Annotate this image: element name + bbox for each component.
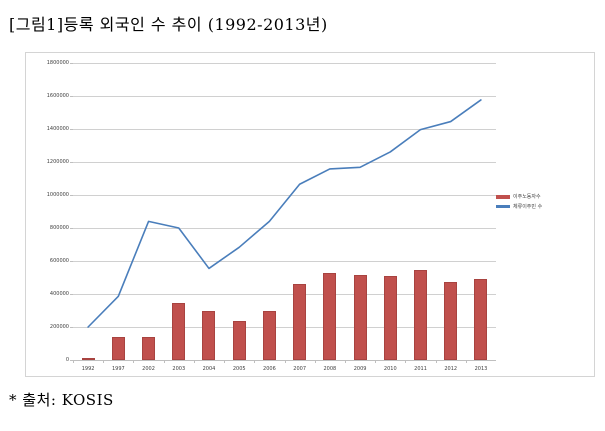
bar-category: 2007 <box>285 63 315 360</box>
x-axis-tick-label: 2003 <box>172 366 185 372</box>
bar-category: 2004 <box>194 63 224 360</box>
legend-item-line: 체류이주민 수 <box>496 203 588 210</box>
x-axis-tick-mark <box>466 360 467 363</box>
bar <box>323 273 336 360</box>
y-axis-tick-label: 1600000 <box>47 93 69 99</box>
x-axis-tick-label: 2011 <box>414 366 427 372</box>
x-axis-tick-label: 2009 <box>354 366 367 372</box>
bar <box>202 311 215 361</box>
bar <box>444 282 457 360</box>
x-axis-tick-label: 1997 <box>112 366 125 372</box>
x-axis-tick-mark <box>345 360 346 363</box>
y-axis-tick-label: 1800000 <box>47 60 69 66</box>
x-axis-tick-label: 2004 <box>203 366 216 372</box>
bar <box>384 276 397 360</box>
x-axis-tick-mark <box>254 360 255 363</box>
y-axis-tick-label: 200000 <box>50 324 69 330</box>
bar-category: 1997 <box>103 63 133 360</box>
x-axis-tick-mark <box>133 360 134 363</box>
bar <box>293 284 306 360</box>
x-axis-tick-mark <box>194 360 195 363</box>
x-axis-tick-mark <box>315 360 316 363</box>
bar <box>82 358 95 360</box>
y-axis-tick-label: 400000 <box>50 291 69 297</box>
bar-category: 2009 <box>345 63 375 360</box>
x-axis-tick-label: 2013 <box>475 366 488 372</box>
bar <box>233 321 246 360</box>
bar-category: 1992 <box>73 63 103 360</box>
y-axis-tick-label: 1200000 <box>47 159 69 165</box>
x-axis-tick-label: 2012 <box>444 366 457 372</box>
bar <box>414 270 427 360</box>
x-axis-tick-mark <box>164 360 165 363</box>
bar <box>172 303 185 360</box>
x-axis-tick-mark <box>103 360 104 363</box>
x-axis-tick-mark <box>285 360 286 363</box>
bar-category: 2010 <box>375 63 405 360</box>
bar <box>474 279 487 360</box>
bar-category: 2008 <box>315 63 345 360</box>
x-axis-tick-label: 2002 <box>142 366 155 372</box>
legend-item-bar: 이주노동자수 <box>496 193 588 200</box>
x-axis-tick-mark <box>375 360 376 363</box>
legend-swatch-line-icon <box>496 205 510 208</box>
x-axis-tick-label: 1992 <box>82 366 95 372</box>
y-axis-tick-label: 600000 <box>50 258 69 264</box>
chart-container: 0200000400000600000800000100000012000001… <box>25 52 595 377</box>
plot-area: 0200000400000600000800000100000012000001… <box>73 63 496 360</box>
x-axis-tick-label: 2008 <box>323 366 336 372</box>
bar-category: 2006 <box>254 63 284 360</box>
x-axis-tick-label: 2005 <box>233 366 246 372</box>
bar <box>263 311 276 360</box>
bar-category: 2013 <box>466 63 496 360</box>
bar-category: 2005 <box>224 63 254 360</box>
bar <box>112 337 125 360</box>
legend-swatch-bar-icon <box>496 195 510 199</box>
x-axis-tick-mark <box>405 360 406 363</box>
x-axis-tick-label: 2010 <box>384 366 397 372</box>
y-axis-tick-label: 0 <box>66 357 69 363</box>
y-axis-tick-label: 1400000 <box>47 126 69 132</box>
bar-series: 1992199720022003200420052006200720082009… <box>73 63 496 360</box>
y-axis-tick-label: 1000000 <box>47 192 69 198</box>
bar-category: 2003 <box>164 63 194 360</box>
x-axis-tick-label: 2007 <box>293 366 306 372</box>
legend-label-bar: 이주노동자수 <box>513 193 541 200</box>
page-title: [그림1]등록 외국인 수 추이 (1992-2013년) <box>9 11 328 35</box>
x-axis-tick-mark <box>436 360 437 363</box>
legend-label-line: 체류이주민 수 <box>513 203 542 210</box>
bar <box>142 337 155 360</box>
y-axis-tick-label: 800000 <box>50 225 69 231</box>
bar-category: 2012 <box>436 63 466 360</box>
bar <box>354 275 367 360</box>
x-axis-tick-label: 2006 <box>263 366 276 372</box>
source-note: * 출처: KOSIS <box>9 389 114 410</box>
bar-category: 2011 <box>405 63 435 360</box>
x-axis-tick-mark <box>224 360 225 363</box>
bar-category: 2002 <box>133 63 163 360</box>
x-axis-tick-mark <box>73 360 74 363</box>
chart-legend: 이주노동자수 체류이주민 수 <box>496 193 588 213</box>
